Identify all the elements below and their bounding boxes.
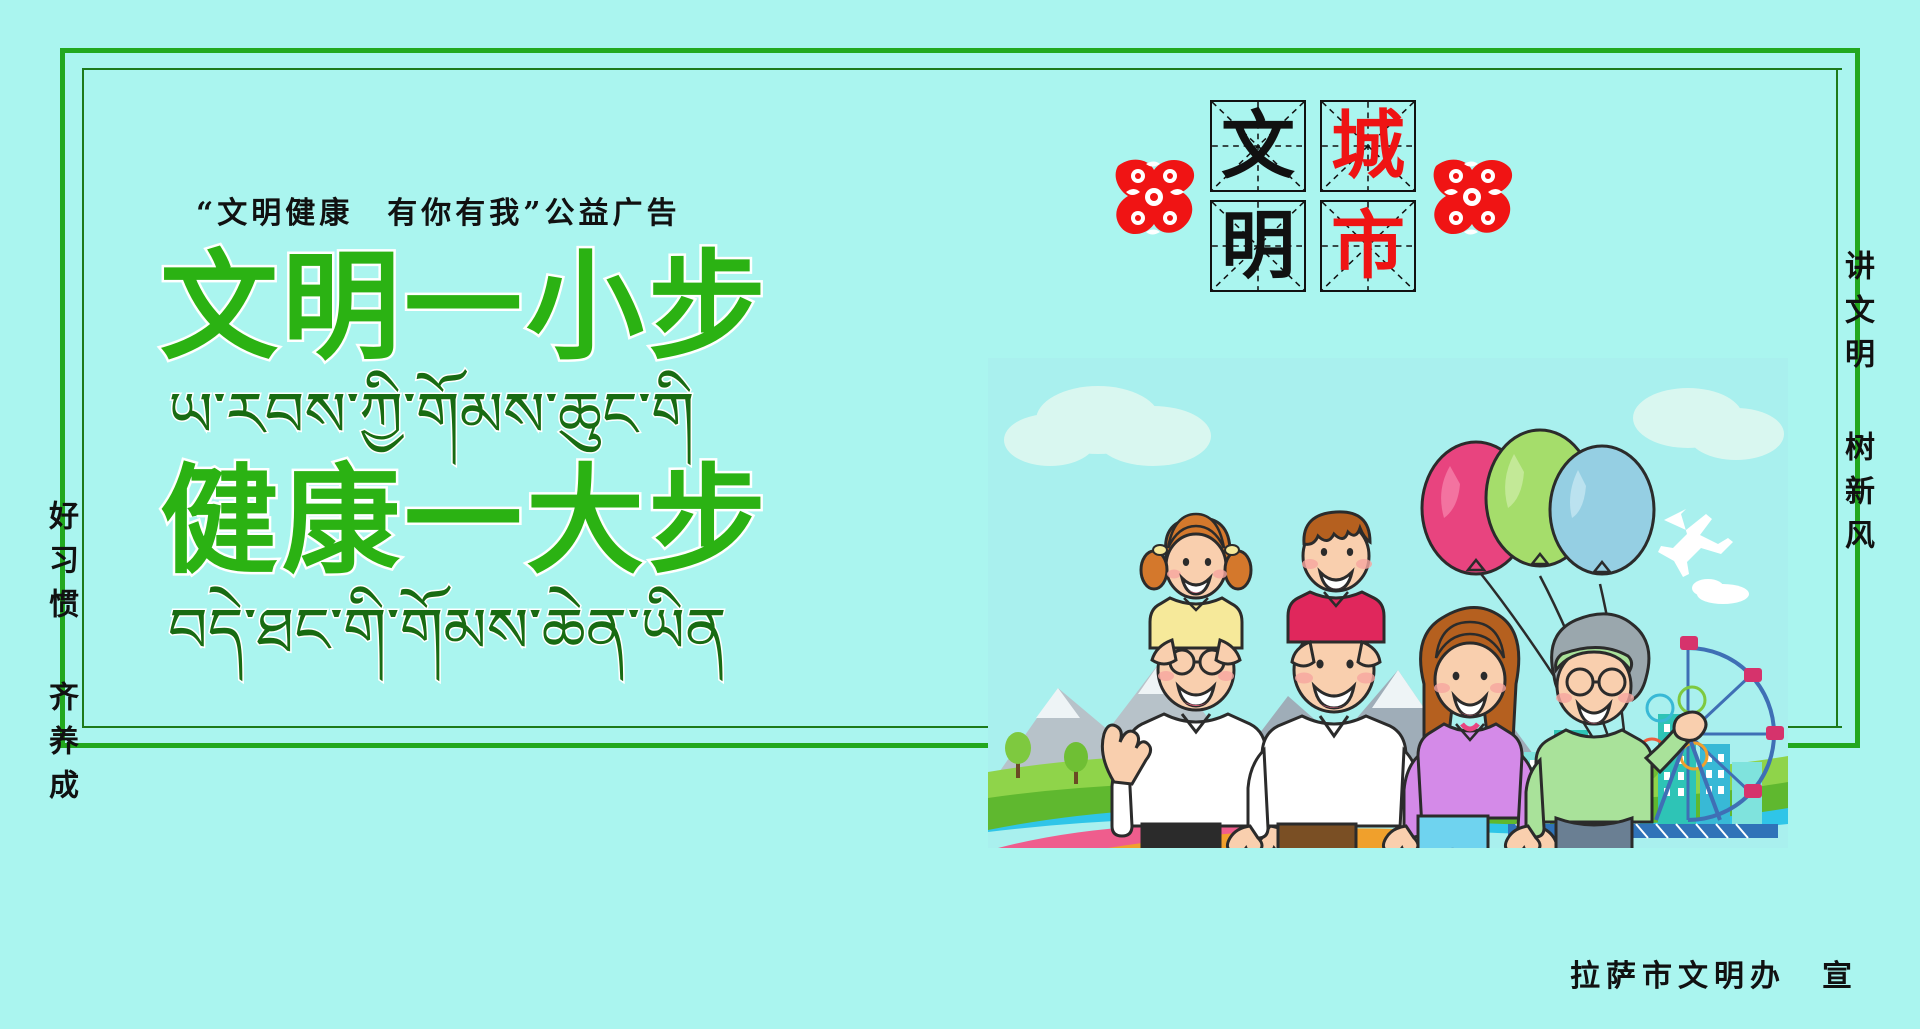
slogan-line2-chinese: 健康一大步 [160, 462, 770, 580]
slogan-line1-chinese: 文明一小步 [160, 248, 770, 366]
father-pants [1278, 824, 1356, 848]
side-text-left: 好习惯 齐养成 [38, 500, 82, 813]
mother-pants [1418, 816, 1488, 848]
emblem-grid: 文 城 明 [1210, 100, 1416, 292]
emblem-char-2: 城 [1322, 102, 1414, 190]
mother-top [1418, 724, 1522, 818]
slogan-line1-tibetan: ཡ་རབས་ཀྱི་གོམས་ཆུང་གི [168, 376, 695, 454]
side-text-right: 讲文明 树新风 [1834, 250, 1878, 563]
emblem-cell-3: 明 [1210, 200, 1306, 292]
poster-canvas: “文明健康 有你有我”公益广告 文明一小步 ཡ་རབས་ཀྱི་གོམས་ཆུང… [0, 0, 1920, 1029]
grandfather-pants [1142, 824, 1220, 848]
emblem-cell-2: 城 [1320, 100, 1416, 192]
civilized-city-emblem: 文 城 明 [1120, 100, 1480, 300]
emblem-char-1: 文 [1212, 102, 1304, 190]
girl-shirt [1150, 598, 1242, 648]
papercut-ornament-left [1112, 152, 1198, 248]
grandmother-balloon-hand [1674, 712, 1706, 740]
emblem-char-3: 明 [1212, 202, 1304, 290]
emblem-cell-4: 市 [1320, 200, 1416, 292]
boy-shirt [1288, 592, 1384, 642]
emblem-char-4: 市 [1322, 202, 1414, 290]
emblem-cell-1: 文 [1210, 100, 1306, 192]
campaign-kicker: “文明健康 有你有我”公益广告 [196, 188, 681, 232]
balloon-blue [1550, 446, 1654, 574]
issuer-signature: 拉萨市文明办 宣 [1570, 951, 1858, 995]
grandmother-top [1536, 730, 1652, 822]
slogan-line2-tibetan: བདེ་ཐང་གི་གོམས་ཆེན་ཡིན [168, 592, 726, 670]
illustration-svg [988, 358, 1788, 848]
father-shirt [1262, 716, 1406, 826]
papercut-ornament-right [1430, 152, 1516, 248]
family-illustration [988, 358, 1788, 848]
